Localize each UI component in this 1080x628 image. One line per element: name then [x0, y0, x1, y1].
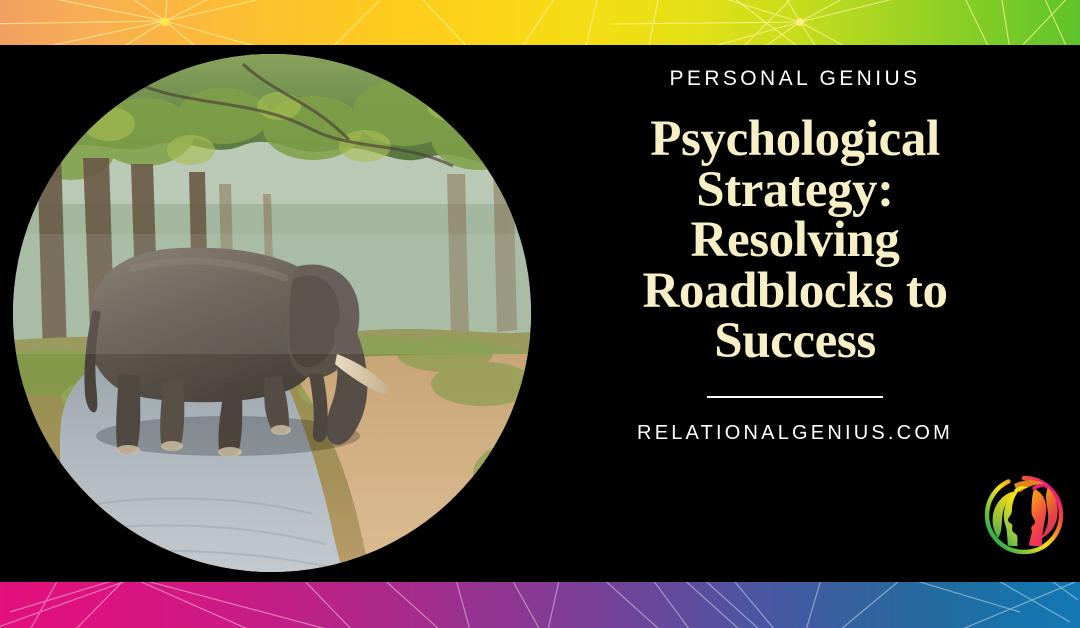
title-line-2: Strategy:: [696, 162, 894, 218]
logo-icon: [974, 464, 1074, 572]
title-line-5: Success: [714, 313, 876, 369]
title-divider: [707, 396, 883, 398]
relational-genius-logo[interactable]: [974, 464, 1074, 572]
bottom-gradient-band: [0, 582, 1080, 628]
hero-photo: [13, 54, 531, 572]
title-line-1: Psychological: [650, 111, 939, 167]
content-column: PERSONAL GENIUS Psychological Strategy: …: [575, 45, 1015, 582]
title-line-4: Roadblocks to: [642, 263, 947, 319]
kicker-label: PERSONAL GENIUS: [670, 67, 921, 90]
page-title: Psychological Strategy: Resolving Roadbl…: [580, 114, 1010, 366]
title-line-3: Resolving: [691, 212, 900, 268]
photo-scene-elephant-road: [13, 54, 531, 572]
top-gradient-band: [0, 0, 1080, 45]
top-band-network-pattern: [0, 0, 1080, 45]
bottom-band-network-pattern: [0, 582, 1080, 628]
website-url: RELATIONALGENIUS.COM: [637, 422, 953, 445]
banner-root: PERSONAL GENIUS Psychological Strategy: …: [0, 0, 1080, 628]
